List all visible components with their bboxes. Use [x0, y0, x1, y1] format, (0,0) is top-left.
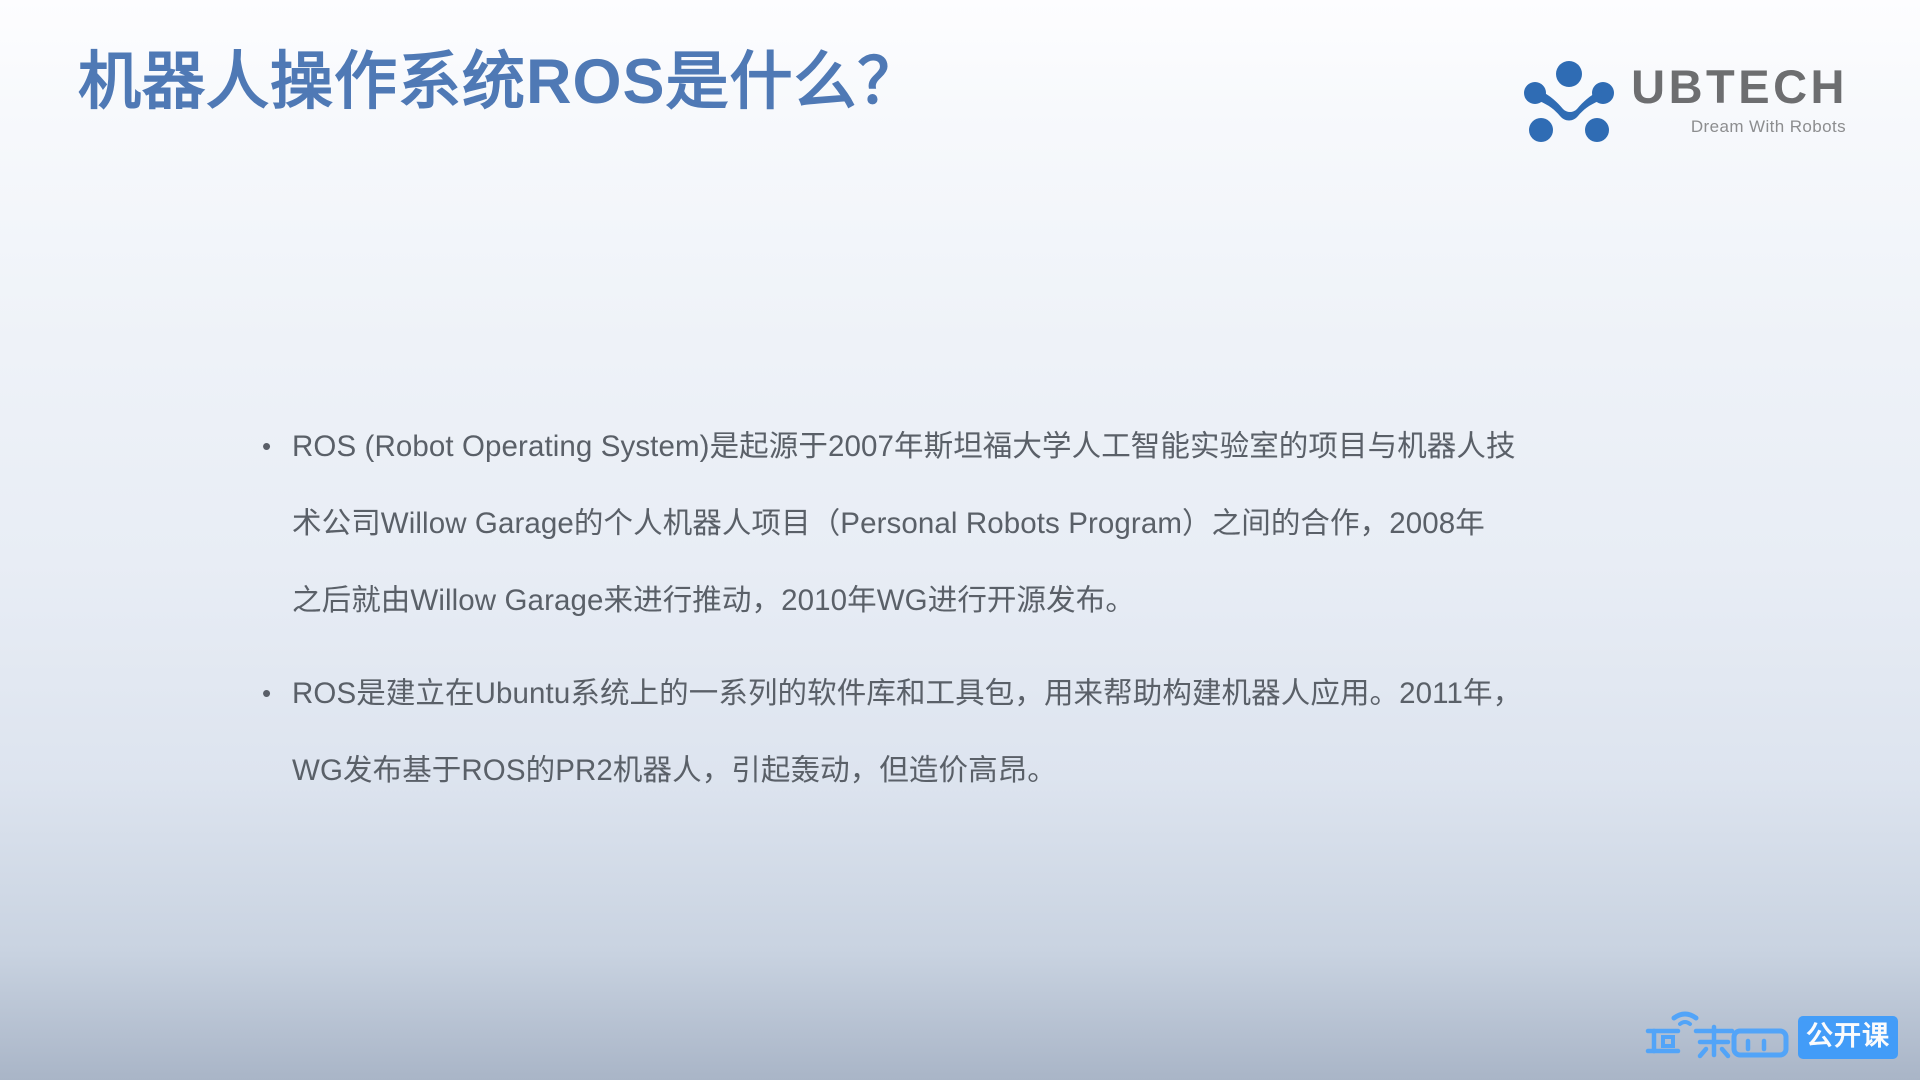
bullet-text: ROS (Robot Operating System)是起源于2007年斯坦福… — [292, 408, 1678, 639]
bullet-list: • ROS (Robot Operating System)是起源于2007年斯… — [258, 408, 1678, 825]
bullet-line: ROS是建立在Ubuntu系统上的一系列的软件库和工具包，用来帮助构建机器人应用… — [292, 655, 1678, 732]
ubtech-logo: UBTECH Dream With Robots — [1523, 56, 1848, 142]
ubtech-tagline: Dream With Robots — [1691, 117, 1848, 137]
bullet-line: WG发布基于ROS的PR2机器人，引起轰动，但造价高昂。 — [292, 732, 1678, 809]
slide-canvas: 机器人操作系统ROS是什么？ UBTECH Dream With Robots — [0, 0, 1920, 1080]
ubtech-logo-text: UBTECH Dream With Robots — [1631, 61, 1848, 137]
ubtech-robot-mark-icon — [1523, 56, 1615, 142]
title-block: 机器人操作系统ROS是什么？ — [78, 48, 1228, 116]
bullet-marker-icon: • — [258, 655, 292, 732]
zhidongxi-brand-icon — [1640, 1009, 1790, 1066]
watermark: 公开课 — [1640, 1009, 1898, 1066]
bullet-marker-icon: • — [258, 408, 292, 485]
bullet-line: 术公司Willow Garage的个人机器人项目（Personal Robots… — [292, 485, 1678, 562]
list-item: • ROS是建立在Ubuntu系统上的一系列的软件库和工具包，用来帮助构建机器人… — [258, 655, 1678, 809]
bullet-text: ROS是建立在Ubuntu系统上的一系列的软件库和工具包，用来帮助构建机器人应用… — [292, 655, 1678, 809]
bullet-line: 之后就由Willow Garage来进行推动，2010年WG进行开源发布。 — [292, 562, 1678, 639]
bullet-line: ROS (Robot Operating System)是起源于2007年斯坦福… — [292, 408, 1678, 485]
ubtech-wordmark: UBTECH — [1631, 63, 1848, 110]
watermark-badge: 公开课 — [1798, 1016, 1898, 1059]
list-item: • ROS (Robot Operating System)是起源于2007年斯… — [258, 408, 1678, 639]
page-title: 机器人操作系统ROS是什么？ — [78, 48, 1228, 116]
